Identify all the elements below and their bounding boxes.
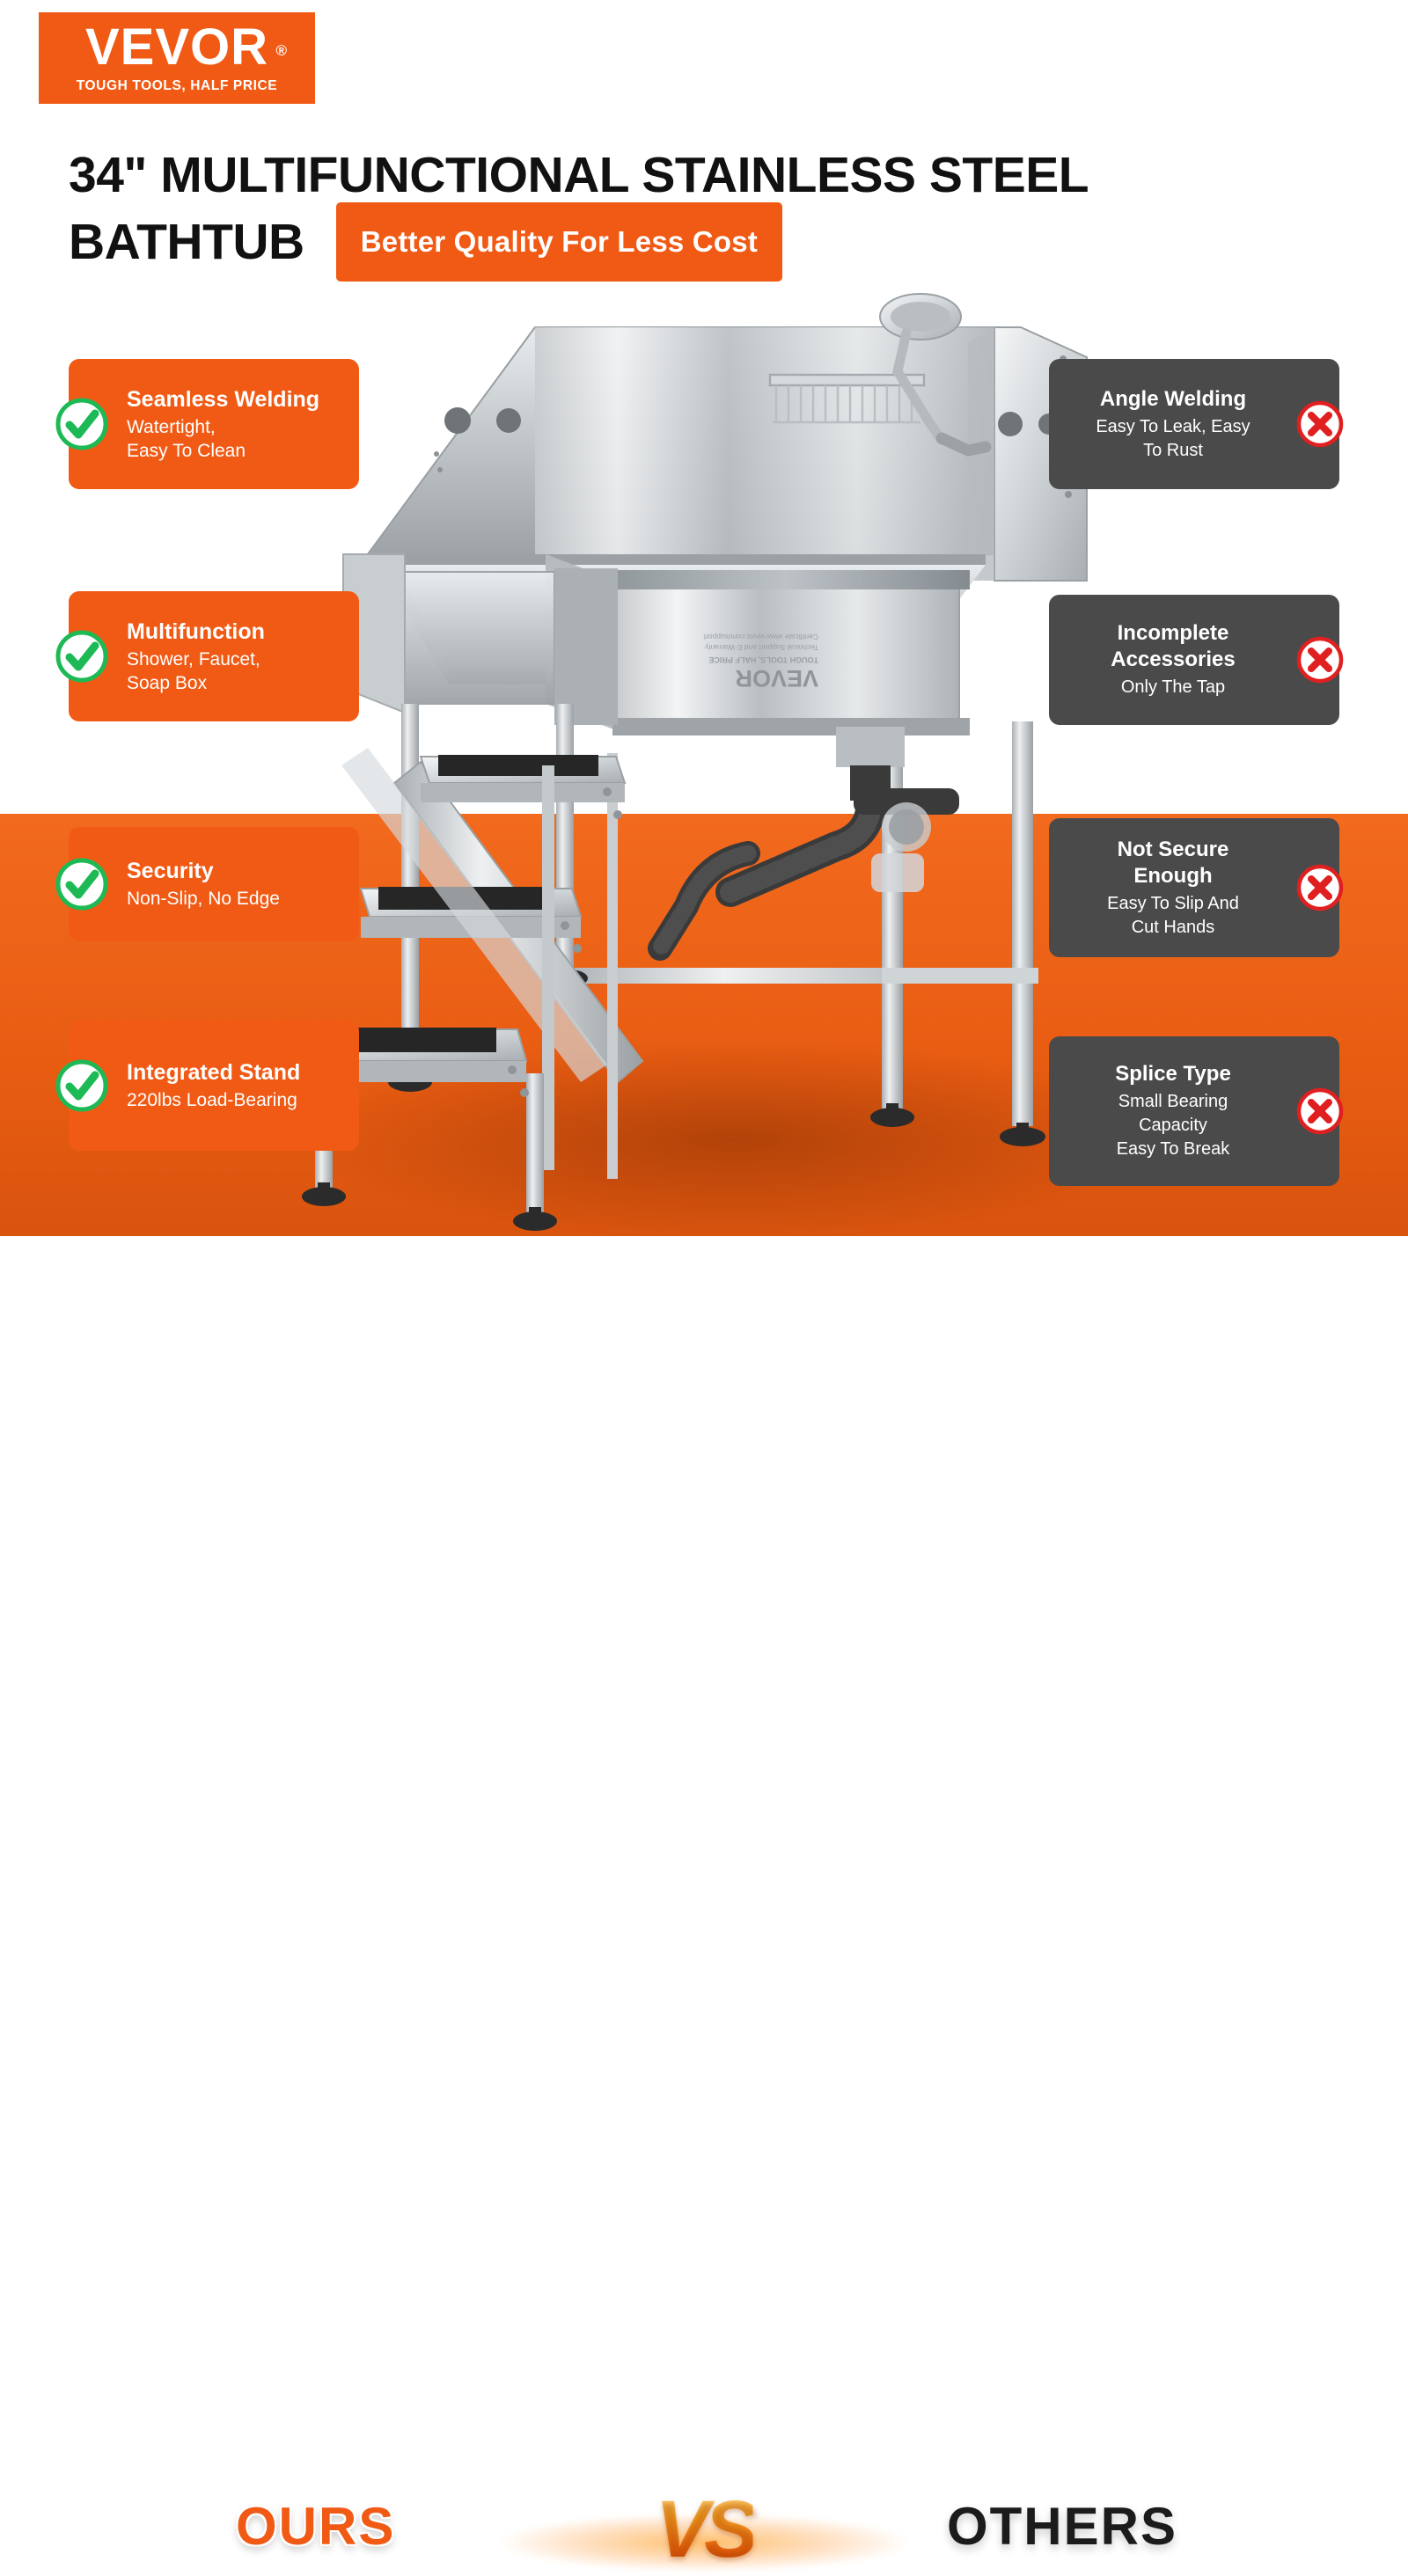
drawback-sub: Only The Tap: [1121, 676, 1225, 699]
headline-block: 34" MULTIFUNCTIONAL STAINLESS STEEL BATH…: [69, 148, 1230, 282]
feature-card-integrated-stand: Integrated Stand 220lbs Load-Bearing: [69, 1021, 359, 1151]
check-icon: [55, 857, 109, 911]
svg-text:VEVOR: VEVOR: [735, 665, 818, 692]
feature-card-multifunction: Multifunction Shower, Faucet, Soap Box: [69, 591, 359, 721]
feature-card-security: Security Non-Slip, No Edge: [69, 827, 359, 941]
feature-title: Integrated Stand: [127, 1059, 343, 1086]
drawback-sub: Easy To Slip And Cut Hands: [1107, 892, 1239, 940]
cross-icon: [1295, 635, 1345, 684]
drawback-sub: Small Bearing Capacity Easy To Break: [1117, 1090, 1230, 1161]
ours-label: OURS: [236, 2496, 395, 2557]
check-icon: [55, 397, 109, 451]
drawback-sub: Easy To Leak, Easy To Rust: [1096, 415, 1250, 463]
quality-badge: Better Quality For Less Cost: [336, 202, 782, 282]
feature-sub: 220lbs Load-Bearing: [127, 1088, 343, 1112]
others-label: OTHERS: [947, 2496, 1177, 2557]
svg-text:TOUGH TOOLS, HALF PRICE: TOUGH TOOLS, HALF PRICE: [708, 655, 818, 664]
brand-name: VEVOR ®: [85, 22, 268, 73]
vevor-logo: VEVOR ® TOUGH TOOLS, HALF PRICE: [39, 12, 315, 104]
feature-sub: Watertight, Easy To Clean: [127, 415, 343, 463]
check-icon: [55, 629, 109, 684]
product-image: VEVOR TOUGH TOOLS, HALF PRICE Technical …: [290, 290, 1109, 1232]
cross-icon: [1295, 1087, 1345, 1136]
registered-mark: ®: [276, 26, 289, 77]
title-line-1: 34" MULTIFUNCTIONAL STAINLESS STEEL: [69, 148, 1230, 202]
drawback-title: Incomplete Accessories: [1111, 620, 1235, 673]
feature-sub: Shower, Faucet, Soap Box: [127, 648, 343, 695]
feature-title: Security: [127, 858, 343, 884]
svg-text:Technical Support and E-Warran: Technical Support and E-Warranty: [704, 643, 818, 652]
drawback-title: Splice Type: [1115, 1061, 1231, 1087]
feature-title: Multifunction: [127, 618, 343, 645]
drawback-title: Angle Welding: [1100, 386, 1246, 413]
page-title: 34" MULTIFUNCTIONAL STAINLESS STEEL BATH…: [69, 148, 1230, 282]
cross-icon: [1295, 863, 1345, 912]
drawback-card-splice-type: Splice Type Small Bearing Capacity Easy …: [1049, 1036, 1339, 1186]
brand-tagline: TOUGH TOOLS, HALF PRICE: [77, 78, 278, 94]
drawback-title: Not Secure Enough: [1118, 837, 1229, 889]
feature-card-seamless-welding: Seamless Welding Watertight, Easy To Cle…: [69, 359, 359, 489]
svg-text:Certificate www.vevor.com/supp: Certificate www.vevor.com/support: [703, 633, 818, 641]
drawback-card-angle-welding: Angle Welding Easy To Leak, Easy To Rust: [1049, 359, 1339, 489]
feature-sub: Non-Slip, No Edge: [127, 887, 343, 911]
vs-label: VS: [656, 2484, 753, 2576]
title-line-2: BATHTUB: [69, 215, 304, 269]
feature-title: Seamless Welding: [127, 386, 343, 413]
drawback-card-incomplete-accessories: Incomplete Accessories Only The Tap: [1049, 595, 1339, 725]
check-icon: [55, 1058, 109, 1113]
drawback-card-not-secure-enough: Not Secure Enough Easy To Slip And Cut H…: [1049, 818, 1339, 957]
cross-icon: [1295, 399, 1345, 449]
brand-name-text: VEVOR: [85, 18, 268, 76]
comparison-footer: OURS VS OTHERS: [0, 1236, 1408, 1408]
